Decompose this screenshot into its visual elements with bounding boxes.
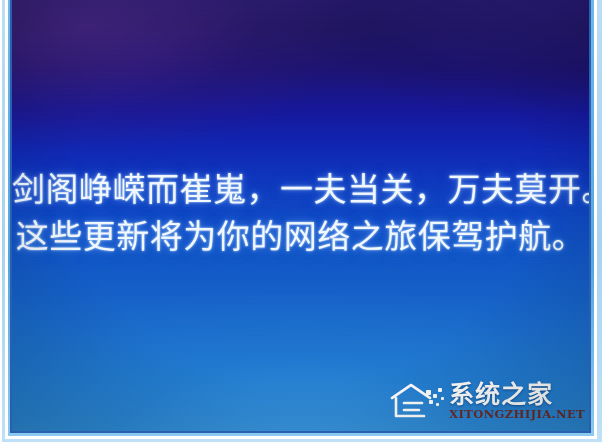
update-message-line-2: 这些更新将为你的网络之旅保驾护航。 (12, 213, 589, 260)
watermark-text: 系统之家 XITONGZHIJIA.NET (449, 382, 585, 421)
update-message: 剑阁峥嵘而崔嵬，一夫当关，万夫莫开。 这些更新将为你的网络之旅保驾护航。 (12, 166, 589, 260)
watermark-site-name: 系统之家 (449, 382, 553, 407)
update-message-line-1: 剑阁峥嵘而崔嵬，一夫当关，万夫莫开。 (12, 166, 589, 213)
screen-vignette (12, 0, 589, 431)
windows-update-screen: 剑阁峥嵘而崔嵬，一夫当关，万夫莫开。 这些更新将为你的网络之旅保驾护航。 (12, 0, 589, 431)
screen-glow-bottom (12, 293, 589, 431)
screen-glow-top-left (12, 0, 358, 155)
screenshot-photo: 剑阁峥嵘而崔嵬，一夫当关，万夫莫开。 这些更新将为你的网络之旅保驾护航。 (0, 0, 605, 444)
site-watermark: 系统之家 XITONGZHIJIA.NET (389, 379, 585, 423)
house-logo-icon (389, 381, 447, 421)
screen-glow-top-right (301, 0, 590, 112)
watermark-site-url: XITONGZHIJIA.NET (449, 409, 585, 421)
screen-noise-texture (12, 0, 589, 431)
